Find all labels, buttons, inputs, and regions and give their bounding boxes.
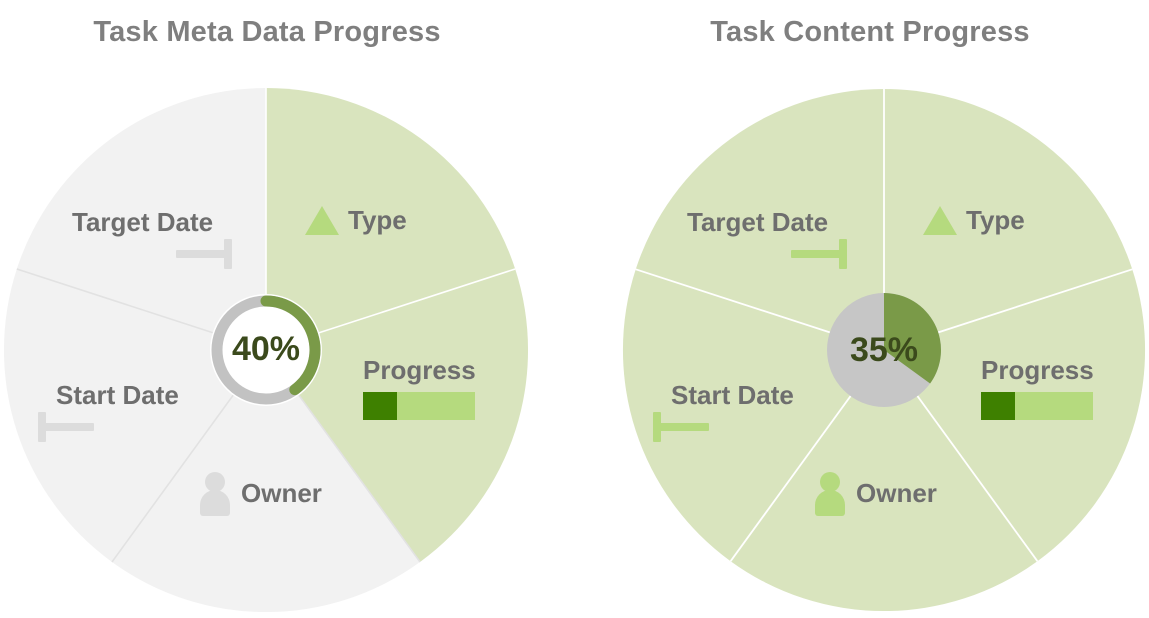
sector-label-type[interactable]: Type [923, 205, 1025, 236]
progress-bar-left[interactable] [363, 392, 475, 420]
center-donut-background [210, 294, 322, 406]
sector-label-owner-text: Owner [856, 478, 937, 509]
sector-label-target-date[interactable]: Target Date [72, 207, 232, 275]
sector-label-start-date[interactable]: Start Date [653, 380, 794, 448]
dashboard-root: Task Meta Data Progress [0, 0, 1149, 618]
sector-label-target-date-text: Target Date [687, 207, 847, 238]
progress-bar-right-fill [981, 392, 1015, 420]
triangle-icon [305, 206, 339, 235]
sector-label-owner-text: Owner [241, 478, 322, 509]
sector-label-progress-text: Progress [363, 355, 476, 386]
progress-bar-right[interactable] [981, 392, 1093, 420]
chart-panel-task-content-progress: Task Content Progress [575, 0, 1149, 618]
sector-label-progress[interactable]: Progress [981, 355, 1094, 420]
sector-label-type-text: Type [966, 205, 1025, 236]
sector-label-target-date[interactable]: Target Date [687, 207, 847, 275]
chart-panel-task-meta-data-progress: Task Meta Data Progress [0, 0, 574, 618]
start-date-icon [38, 411, 100, 443]
wheel-left: 40% Type Progress Owner [0, 0, 574, 618]
sector-label-type[interactable]: Type [305, 205, 407, 236]
person-icon [198, 472, 232, 514]
triangle-icon [923, 206, 957, 235]
sector-label-start-date-text: Start Date [56, 380, 179, 411]
sector-label-start-date-text: Start Date [671, 380, 794, 411]
sector-label-target-date-text: Target Date [72, 207, 232, 238]
person-icon [813, 472, 847, 514]
sector-label-progress[interactable]: Progress [363, 355, 476, 420]
sector-label-start-date[interactable]: Start Date [38, 380, 179, 448]
target-date-icon [785, 238, 847, 270]
wheel-right: 35% Type Progress Owner Start Date [575, 0, 1149, 618]
sector-label-progress-text: Progress [981, 355, 1094, 386]
wheel-right-svg [575, 0, 1149, 618]
progress-bar-left-fill [363, 392, 397, 420]
sector-label-type-text: Type [348, 205, 407, 236]
target-date-icon [170, 238, 232, 270]
sector-label-owner[interactable]: Owner [198, 472, 322, 514]
start-date-icon [653, 411, 715, 443]
sector-label-owner[interactable]: Owner [813, 472, 937, 514]
wheel-left-svg [0, 0, 574, 618]
